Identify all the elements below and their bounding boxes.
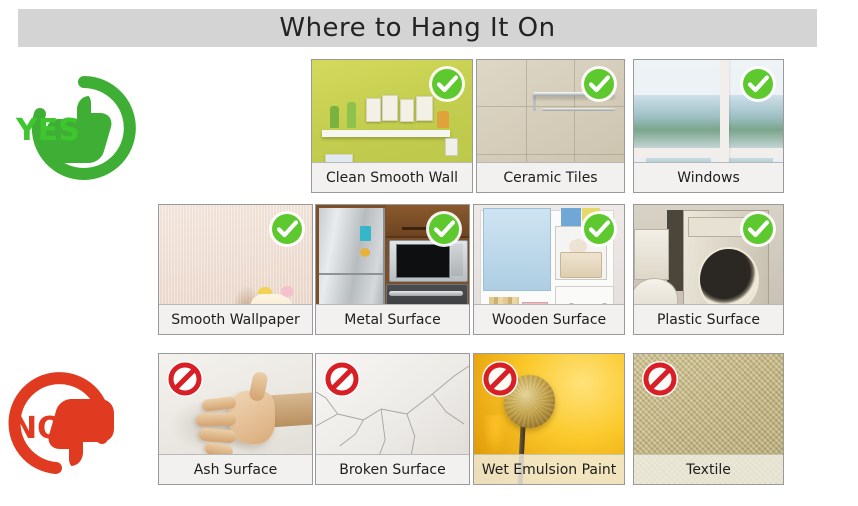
card-textile[interactable]: Textile [633,353,784,485]
card-caption: Broken Surface [316,454,469,484]
card-wet-emulsion-paint[interactable]: Wet Emulsion Paint [473,353,625,485]
card-caption: Plastic Surface [634,304,783,334]
approved-badge [739,65,777,103]
thumbs-down-circle-icon: NO [0,370,150,490]
card-windows[interactable]: Windows [633,59,784,193]
green-check-badge-icon [580,210,618,248]
green-check-badge-icon [739,210,777,248]
red-prohibition-badge-icon [323,360,361,398]
verdict-yes-label: YES [15,113,80,148]
verdict-no-label: NO [12,411,63,446]
card-caption: Ash Surface [159,454,312,484]
approved-badge [739,210,777,248]
green-check-badge-icon [425,210,463,248]
green-check-badge-icon [739,65,777,103]
approved-badge [268,210,306,248]
card-wooden-surface[interactable]: Wooden Surface [473,204,625,335]
card-caption: Wooden Surface [474,304,624,334]
red-prohibition-badge-icon [166,360,204,398]
card-clean-smooth-wall[interactable]: Clean Smooth Wall [311,59,473,193]
approved-badge [428,65,466,103]
thumbs-up-circle-icon: YES [6,68,156,188]
card-broken-surface[interactable]: Broken Surface [315,353,470,485]
page-title-band: Where to Hang It On [18,9,817,47]
red-prohibition-badge-icon [641,360,679,398]
card-plastic-surface[interactable]: Plastic Surface [633,204,784,335]
verdict-no: NO [0,370,150,490]
approved-badge [580,65,618,103]
card-caption: Metal Surface [316,304,469,334]
card-metal-surface[interactable]: Metal Surface [315,204,470,335]
green-check-badge-icon [428,65,466,103]
forbidden-badge [166,360,204,398]
card-caption: Wet Emulsion Paint [474,454,624,484]
red-prohibition-badge-icon [481,360,519,398]
approved-badge [580,210,618,248]
card-caption: Windows [634,162,783,192]
green-check-badge-icon [580,65,618,103]
verdict-yes: YES [6,68,156,188]
forbidden-badge [323,360,361,398]
card-smooth-wallpaper[interactable]: Smooth Wallpaper [158,204,313,335]
forbidden-badge [641,360,679,398]
card-caption: Ceramic Tiles [477,162,624,192]
card-caption: Smooth Wallpaper [159,304,312,334]
page-title: Where to Hang It On [279,13,555,43]
card-ceramic-tiles[interactable]: Ceramic Tiles [476,59,625,193]
forbidden-badge [481,360,519,398]
card-ash-surface[interactable]: Ash Surface [158,353,313,485]
card-caption: Clean Smooth Wall [312,162,472,192]
card-caption: Textile [634,454,783,484]
approved-badge [425,210,463,248]
green-check-badge-icon [268,210,306,248]
